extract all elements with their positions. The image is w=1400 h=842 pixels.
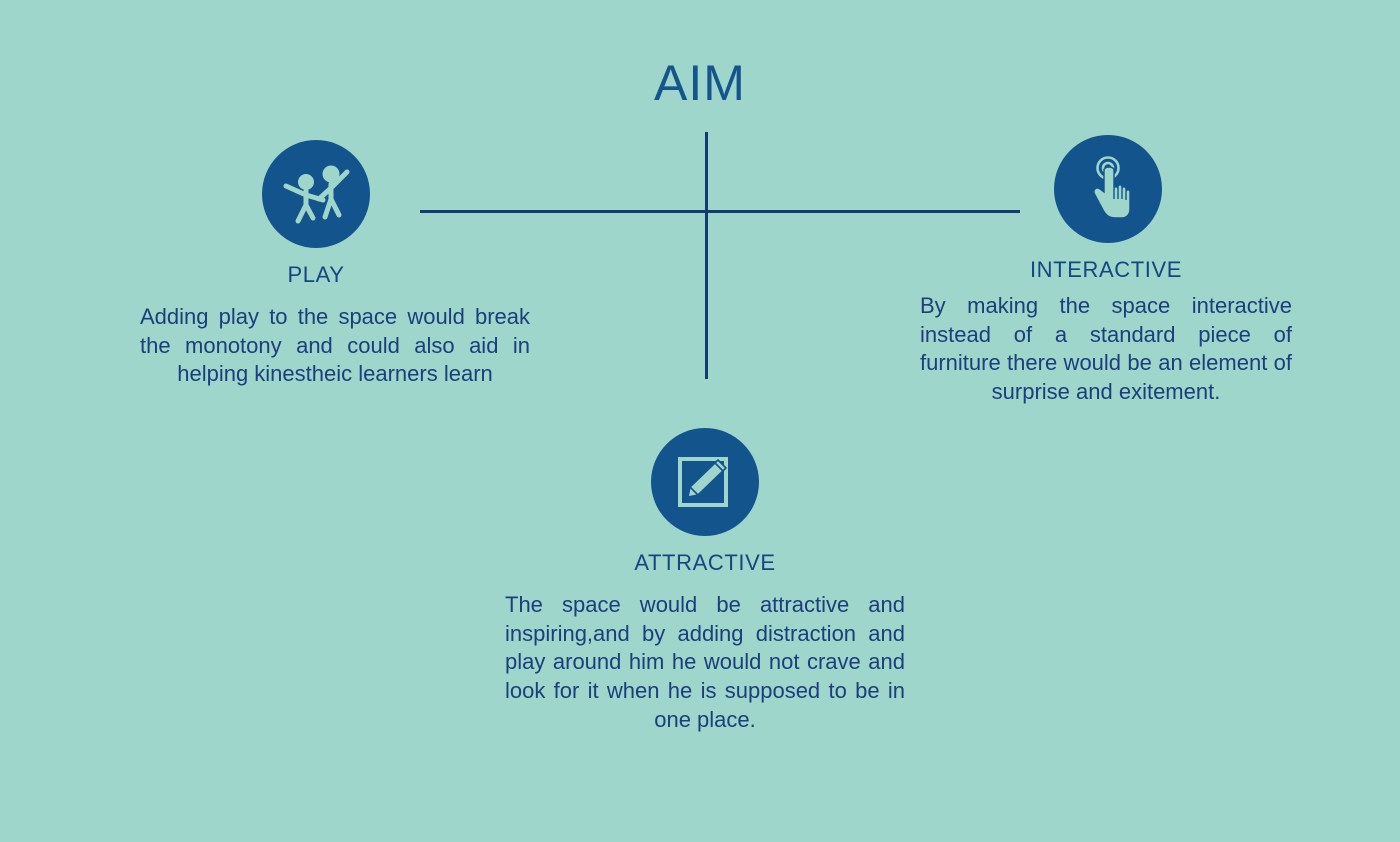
- attractive-icon-circle: [651, 428, 759, 536]
- two-children-playing-icon: [279, 163, 353, 225]
- play-icon-circle: [262, 140, 370, 248]
- node-attractive-label: ATTRACTIVE: [505, 551, 905, 575]
- interactive-icon-circle: [1054, 135, 1162, 243]
- node-interactive-label: INTERACTIVE: [920, 258, 1292, 282]
- page-title: AIM: [0, 58, 1400, 108]
- node-interactive-description: By making the space interactive instead …: [920, 292, 1292, 406]
- node-attractive: ATTRACTIVE The space would be attractive…: [505, 428, 905, 734]
- node-interactive: INTERACTIVE By making the space interact…: [920, 135, 1292, 407]
- pencil-square-edit-icon: [674, 451, 736, 513]
- node-attractive-description: The space would be attractive and inspir…: [505, 591, 905, 734]
- infographic-canvas: AIM PLAY: [0, 0, 1400, 842]
- node-play-description: Adding play to the space would break the…: [140, 303, 530, 389]
- hand-tap-icon: [1080, 156, 1136, 222]
- vertical-divider-line: [705, 132, 708, 379]
- node-play-label: PLAY: [140, 263, 492, 287]
- node-play: PLAY Adding play to the space would brea…: [140, 140, 530, 389]
